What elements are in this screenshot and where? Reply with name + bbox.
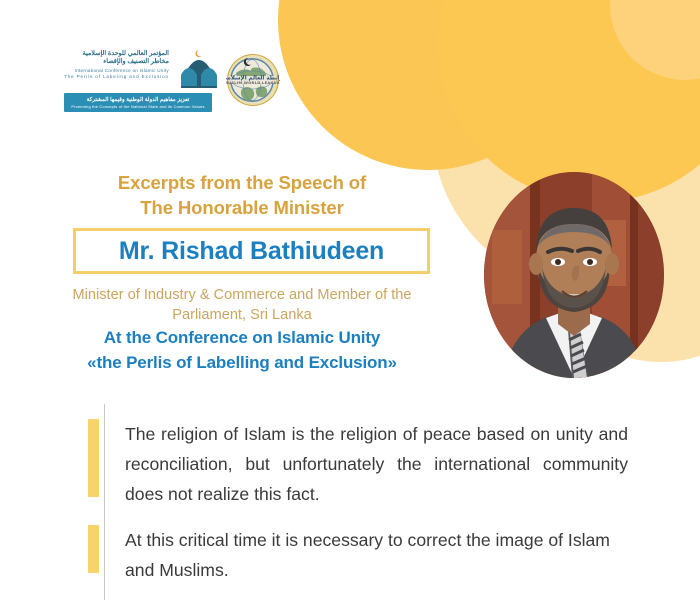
- mosque-dome-icon: [175, 48, 223, 88]
- quote-block-1: The religion of Islam is the religion of…: [88, 419, 628, 509]
- quote-accent-bar-2: [88, 525, 99, 573]
- conference-arabic-line-2: مخاطر التصنيف والإقصاء: [103, 58, 169, 66]
- conference-title-line-1: At the Conference on Islamic Unity: [0, 326, 484, 351]
- decorative-yellow-highlight: [610, 0, 700, 80]
- speaker-portrait: [484, 172, 664, 378]
- conference-title: At the Conference on Islamic Unity «the …: [0, 326, 484, 375]
- conference-logo-top: المؤتمر العالمي للوحدة الإسلامية مخاطر ا…: [64, 48, 212, 88]
- speaker-role-line-1: Minister of Industry & Commerce and Memb…: [0, 285, 484, 305]
- speech-excerpt-poster: المؤتمر العالمي للوحدة الإسلامية مخاطر ا…: [0, 0, 700, 600]
- muslim-world-league-logo: رابطة العالم الإسلامي MUSLIM WORLD LEAGU…: [226, 53, 280, 107]
- conference-logo: المؤتمر العالمي للوحدة الإسلامية مخاطر ا…: [64, 48, 212, 112]
- conference-banner-english: Promoting the Concepts of the National S…: [71, 104, 204, 109]
- excerpt-heading: Excerpts from the Speech of The Honorabl…: [0, 170, 484, 220]
- conference-logo-text: المؤتمر العالمي للوحدة الإسلامية مخاطر ا…: [64, 48, 169, 80]
- speaker-name-box: Mr. Rishad Bathiudeen: [73, 228, 430, 274]
- conference-english-line-2: The Perils of Labeling and Exclusion: [64, 74, 169, 80]
- quote-accent-bar-1: [88, 419, 99, 497]
- speaker-role-line-2: Parliament, Sri Lanka: [0, 305, 484, 325]
- quote-text-1: The religion of Islam is the religion of…: [99, 419, 628, 509]
- globe-crescent-icon: رابطة العالم الإسلامي MUSLIM WORLD LEAGU…: [226, 53, 280, 107]
- speaker-role: Minister of Industry & Commerce and Memb…: [0, 285, 484, 325]
- svg-text:MUSLIM WORLD LEAGUE: MUSLIM WORLD LEAGUE: [226, 81, 280, 85]
- excerpt-heading-line-2: The Honorable Minister: [0, 195, 484, 220]
- decorative-yellow-circle-left: [278, 0, 578, 170]
- quote-block-2: At this critical time it is necessary to…: [88, 525, 628, 585]
- conference-title-line-2: «the Perlis of Labelling and Exclusion»: [0, 351, 484, 376]
- speaker-name: Mr. Rishad Bathiudeen: [119, 237, 384, 266]
- quote-text-2: At this critical time it is necessary to…: [99, 525, 628, 585]
- excerpt-heading-line-1: Excerpts from the Speech of: [0, 170, 484, 195]
- logo-row: المؤتمر العالمي للوحدة الإسلامية مخاطر ا…: [64, 48, 280, 112]
- conference-arabic-line-1: المؤتمر العالمي للوحدة الإسلامية: [83, 50, 169, 58]
- conference-banner: تعزيز مفاهيم الدولة الوطنية وقيمها المشت…: [64, 93, 212, 112]
- conference-banner-arabic: تعزيز مفاهيم الدولة الوطنية وقيمها المشت…: [87, 97, 190, 104]
